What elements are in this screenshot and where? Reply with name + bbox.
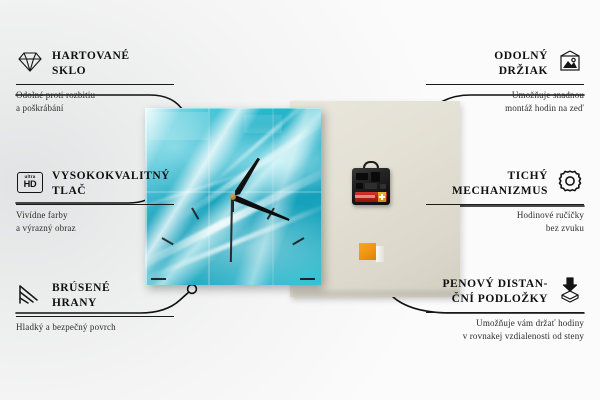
feature-description: Umožňuje snadnou montáž hodin na zeď	[426, 89, 584, 115]
artwork-gridline	[272, 108, 274, 285]
gear-icon	[556, 168, 584, 196]
mechanism-detail	[356, 183, 363, 189]
feature-tempered-glass: HARTOVANÉ SKLO Odolné proti rozbitiu a p…	[16, 48, 174, 115]
feature-divider	[426, 84, 584, 85]
ultra-hd-icon-main-label: HD	[24, 180, 37, 189]
feature-title: PENOVÝ DISTAN- ČNÍ PODLOŽKY	[442, 276, 548, 307]
mechanism-body	[352, 168, 390, 205]
feature-header: HARTOVANÉ SKLO	[16, 48, 174, 79]
feature-description: Odolné proti rozbitiu a poškrábání	[16, 89, 174, 115]
feature-title: BRÚSENÉ HRANY	[52, 280, 110, 311]
feature-header: ODOLNÝ DRŽIAK	[426, 48, 584, 79]
feature-title: HARTOVANÉ SKLO	[52, 48, 130, 79]
product-photo	[140, 85, 460, 315]
mechanism-detail	[365, 183, 377, 189]
clock-hub	[230, 194, 236, 200]
foam-pad	[359, 243, 376, 260]
feature-high-quality-print: ultra HD VYSOKOKVALITNÝ TLAČ Vivídne far…	[16, 168, 174, 235]
artwork-gridline	[208, 108, 210, 285]
ground-edges-icon	[16, 280, 44, 308]
feature-description: Hodinové ručičky bez zvuku	[426, 209, 584, 235]
artwork-patch	[149, 112, 209, 140]
feature-durable-holder: ODOLNÝ DRŽIAK Umožňuje snadnou montáž ho…	[426, 48, 584, 115]
mechanism-detail	[371, 172, 380, 182]
feature-title: ODOLNÝ DRŽIAK	[494, 48, 548, 79]
picture-frame-icon	[556, 48, 584, 76]
ultra-hd-icon: ultra HD	[16, 168, 44, 196]
feature-divider	[16, 204, 174, 205]
feature-foam-spacers: PENOVÝ DISTAN- ČNÍ PODLOŽKY Umožňuje vám…	[426, 276, 584, 343]
clock-mechanism	[352, 165, 390, 207]
clock-tick	[233, 278, 315, 280]
foam-pad-highlight	[376, 246, 384, 262]
feature-title: VYSOKOKVALITNÝ TLAČ	[52, 168, 170, 199]
feature-header: BRÚSENÉ HRANY	[16, 280, 174, 311]
mechanism-detail	[380, 184, 386, 189]
feature-divider	[16, 316, 174, 317]
feature-ground-edges: BRÚSENÉ HRANY Hladký a bezpečný povrch	[16, 280, 174, 334]
feature-description: Hladký a bezpečný povrch	[16, 321, 174, 334]
feature-header: ultra HD VYSOKOKVALITNÝ TLAČ	[16, 168, 174, 199]
feature-divider	[426, 312, 584, 313]
feature-title: TICHÝ MECHANIZMUS	[452, 168, 548, 199]
battery-label	[355, 195, 375, 198]
feature-header: TICHÝ MECHANIZMUS	[426, 168, 584, 199]
battery-terminal	[378, 192, 386, 202]
feature-description: Umožňuje vám držať hodiny v rovnakej vzd…	[426, 317, 584, 343]
diamond-icon	[16, 48, 44, 76]
clock-tick-bar	[300, 278, 315, 280]
mechanism-detail	[356, 173, 368, 180]
down-arrow-stack-icon	[556, 276, 584, 304]
infographic-canvas: HARTOVANÉ SKLO Odolné proti rozbitiu a p…	[0, 0, 600, 400]
feature-description: Vivídne farby a výrazný obraz	[16, 209, 174, 235]
feature-silent-mechanism: TICHÝ MECHANIZMUS Hodinové ručičky bez z…	[426, 168, 584, 235]
feature-divider	[426, 204, 584, 205]
feature-divider	[16, 84, 174, 85]
feature-header: PENOVÝ DISTAN- ČNÍ PODLOŽKY	[426, 276, 584, 307]
